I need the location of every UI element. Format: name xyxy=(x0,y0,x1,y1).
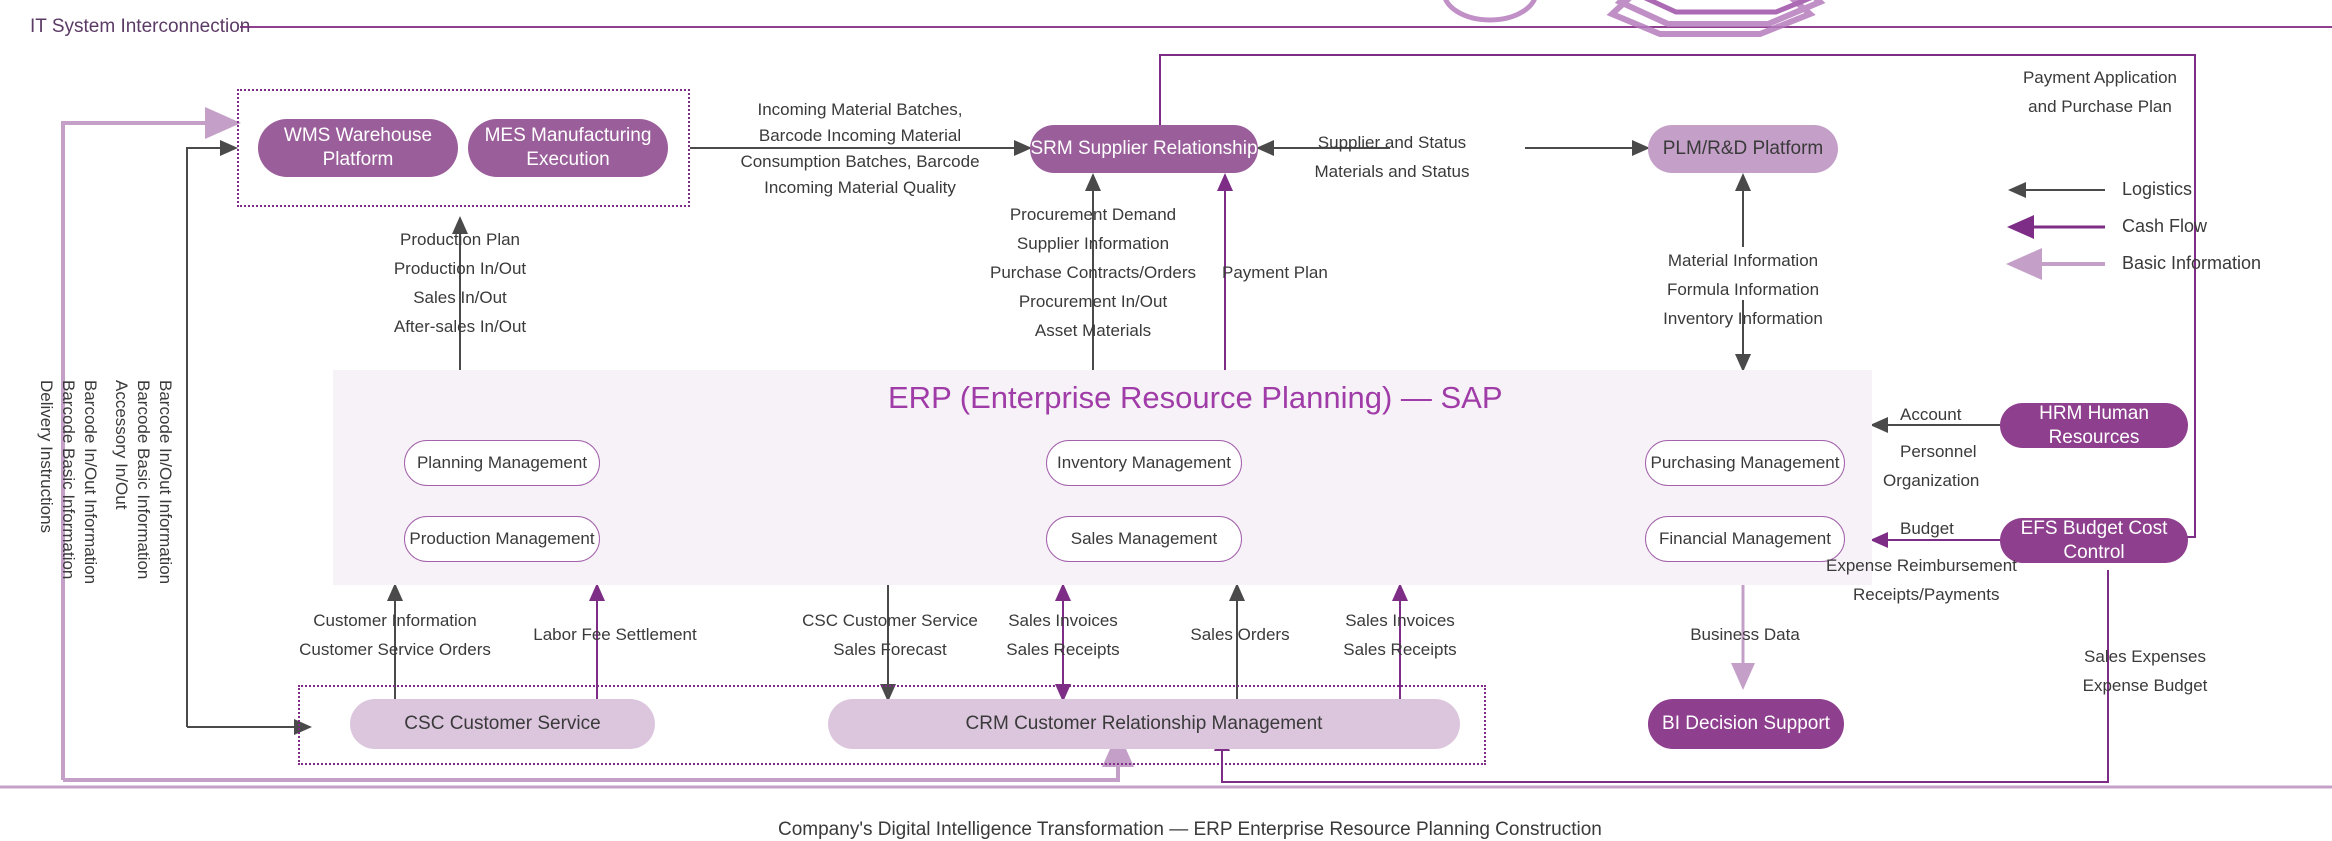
erp-module-financial[interactable]: Financial Management xyxy=(1645,516,1845,562)
flow-label-sales-invoices-right: Sales Invoices xyxy=(1325,609,1475,634)
flow-label-customer-service-orders: Customer Service Orders xyxy=(280,638,510,663)
node-hrm[interactable]: HRM Human Resources xyxy=(2000,403,2188,448)
flow-label-inventory-information: Inventory Information xyxy=(1623,307,1863,332)
node-efs[interactable]: EFS Budget Cost Control xyxy=(2000,518,2188,563)
flow-label-sales-expenses: Sales Expenses xyxy=(2050,645,2240,670)
flow-label-purchase-contracts: Purchase Contracts/Orders xyxy=(963,261,1223,286)
flow-label-payment-application-1: Payment Application xyxy=(2000,66,2200,91)
flow-label-procurement-demand: Procurement Demand xyxy=(973,203,1213,228)
diagram-canvas: IT System Interconnection WMS Warehouse … xyxy=(0,0,2332,840)
flow-label-account: Account xyxy=(1900,403,1961,428)
flow-label-sales-orders: Sales Orders xyxy=(1175,623,1305,648)
flow-label-personnel: Personnel xyxy=(1900,440,1977,465)
erp-title: ERP (Enterprise Resource Planning) — SAP xyxy=(888,380,1503,416)
flow-label-aftersales-inout: After-sales In/Out xyxy=(340,315,580,340)
flow-label-sales-forecast: Sales Forecast xyxy=(790,638,990,663)
flow-label-csc-customer-service: CSC Customer Service xyxy=(790,609,990,634)
node-crm[interactable]: CRM Customer Relationship Management xyxy=(828,699,1460,749)
flow-label-mes-srm-1: Incoming Material Batches, xyxy=(730,98,990,123)
node-csc[interactable]: CSC Customer Service xyxy=(350,699,655,749)
flow-label-materials-status: Materials and Status xyxy=(1272,160,1512,185)
flow-label-supplier-information: Supplier Information xyxy=(973,232,1213,257)
node-mes[interactable]: MES Manufacturing Execution xyxy=(468,119,668,177)
legend-item-basic-information: Basic Information xyxy=(2122,253,2261,274)
flow-label-mes-srm-4: Incoming Material Quality xyxy=(730,176,990,201)
flow-label-sales-receipts-right: Sales Receipts xyxy=(1325,638,1475,663)
flow-label-expense-reimbursement: Expense Reimbursement xyxy=(1826,554,2017,579)
vlabel-barcode-basic-information-2: Barcode Basic Information xyxy=(133,380,153,579)
flow-label-sales-invoices-left: Sales Invoices xyxy=(988,609,1138,634)
flow-label-sales-receipts-left: Sales Receipts xyxy=(988,638,1138,663)
vlabel-accessory-inout: Accessory In/Out xyxy=(111,380,131,509)
vlabel-delivery-instructions: Delivery Instructions xyxy=(36,380,56,533)
flow-label-material-information: Material Information xyxy=(1623,249,1863,274)
node-srm[interactable]: SRM Supplier Relationship xyxy=(1030,125,1258,173)
flow-label-expense-budget: Expense Budget xyxy=(2050,674,2240,699)
flow-label-payment-application-2: and Purchase Plan xyxy=(2000,95,2200,120)
vlabel-barcode-inout-information-1: Barcode In/Out Information xyxy=(80,380,100,584)
node-plm[interactable]: PLM/R&D Platform xyxy=(1648,125,1838,173)
flow-label-production-plan: Production Plan xyxy=(340,228,580,253)
flow-label-procurement-inout: Procurement In/Out xyxy=(973,290,1213,315)
erp-module-planning[interactable]: Planning Management xyxy=(404,440,600,486)
flow-label-sales-inout: Sales In/Out xyxy=(340,286,580,311)
vlabel-barcode-inout-information-2: Barcode In/Out Information xyxy=(155,380,175,584)
flow-label-mes-srm-3: Consumption Batches, Barcode xyxy=(730,150,990,175)
erp-module-inventory[interactable]: Inventory Management xyxy=(1046,440,1242,486)
erp-module-sales[interactable]: Sales Management xyxy=(1046,516,1242,562)
erp-module-production[interactable]: Production Management xyxy=(404,516,600,562)
footer-caption: Company's Digital Intelligence Transform… xyxy=(778,819,1602,841)
node-bi[interactable]: BI Decision Support xyxy=(1648,699,1844,749)
flow-label-asset-materials: Asset Materials xyxy=(973,319,1213,344)
flow-label-formula-information: Formula Information xyxy=(1623,278,1863,303)
legend-item-logistics: Logistics xyxy=(2122,179,2192,200)
page-title: IT System Interconnection xyxy=(30,16,250,38)
erp-module-purchasing[interactable]: Purchasing Management xyxy=(1645,440,1845,486)
flow-label-organization: Organization xyxy=(1883,469,1979,494)
flow-label-customer-information: Customer Information xyxy=(290,609,500,634)
node-wms[interactable]: WMS Warehouse Platform xyxy=(258,119,458,177)
vlabel-barcode-basic-information-1: Barcode Basic Information xyxy=(58,380,78,579)
flow-label-supplier-status: Supplier and Status xyxy=(1272,131,1512,156)
flow-label-production-inout: Production In/Out xyxy=(340,257,580,282)
flow-label-mes-srm-2: Barcode Incoming Material xyxy=(730,124,990,149)
flow-label-budget: Budget xyxy=(1900,517,1954,542)
legend-item-cash-flow: Cash Flow xyxy=(2122,216,2207,237)
flow-label-labor-fee-settlement: Labor Fee Settlement xyxy=(520,623,710,648)
flow-label-receipts-payments: Receipts/Payments xyxy=(1853,583,1999,608)
flow-label-business-data: Business Data xyxy=(1660,623,1830,648)
flow-label-payment-plan: Payment Plan xyxy=(1222,261,1328,286)
